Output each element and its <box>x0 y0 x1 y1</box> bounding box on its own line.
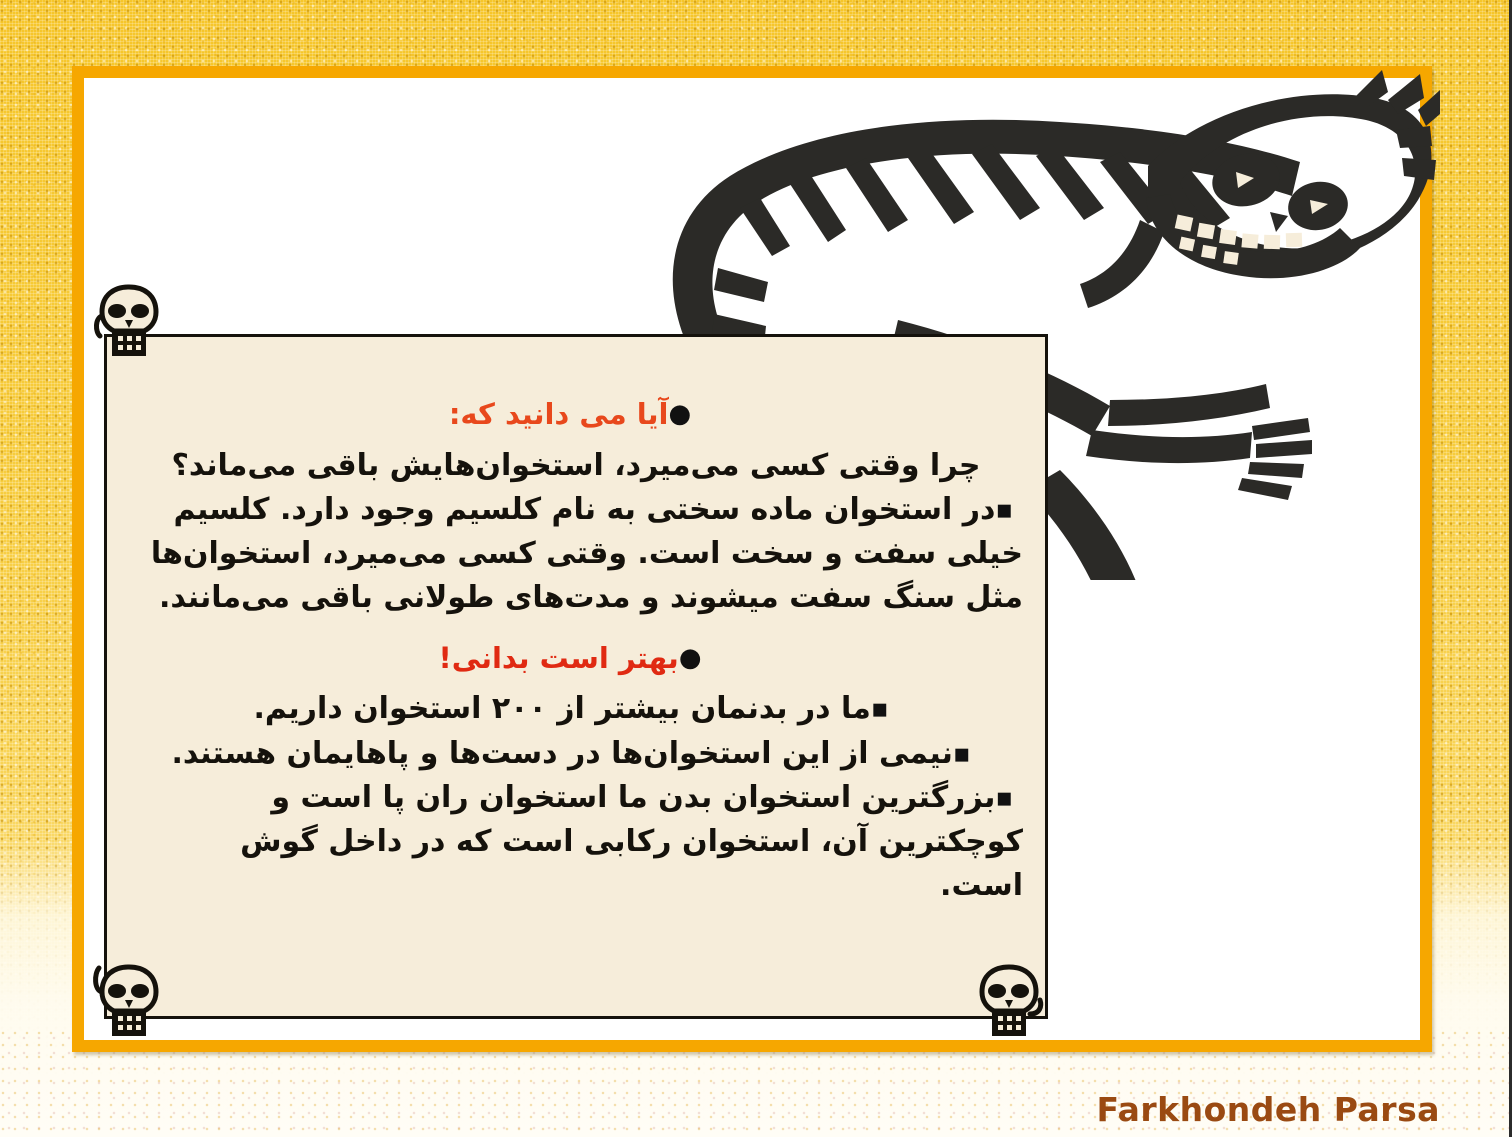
section-heading-2: بهتر است بدانی! <box>129 639 1023 678</box>
fact-line: نیمی از این استخوان‌ها در دست‌ها و پاهای… <box>129 734 1023 774</box>
fact-line: مثل سنگ سفت میشوند و مدت‌های طولانی باقی… <box>129 578 1023 618</box>
fact-line: ما در بدنمان بیشتر از ۲۰۰ استخوان داریم. <box>129 689 1023 729</box>
content-body: آیا می دانید که: چرا وقتی کسی می‌میرد، ا… <box>107 337 1045 1016</box>
author-signature: Farkhondeh Parsa <box>1097 1090 1441 1129</box>
fact-line: است. <box>129 866 1023 906</box>
fact-line: بزرگترین استخوان بدن ما استخوان ران پا ا… <box>129 778 1023 818</box>
section-heading-1: آیا می دانید که: <box>129 395 1023 434</box>
content-box: آیا می دانید که: چرا وقتی کسی می‌میرد، ا… <box>104 334 1048 1019</box>
fact-line: کوچکترین آن، استخوان رکابی است که در داخ… <box>129 822 1023 862</box>
fact-line: چرا وقتی کسی می‌میرد، استخوان‌هایش باقی … <box>129 446 1023 486</box>
fact-line: در استخوان ماده سختی به نام کلسیم وجود د… <box>129 490 1023 530</box>
slide-canvas: آیا می دانید که: چرا وقتی کسی می‌میرد، ا… <box>0 0 1512 1137</box>
fact-line: خیلی سفت و سخت است. وقتی کسی می‌میرد، اس… <box>129 534 1023 574</box>
